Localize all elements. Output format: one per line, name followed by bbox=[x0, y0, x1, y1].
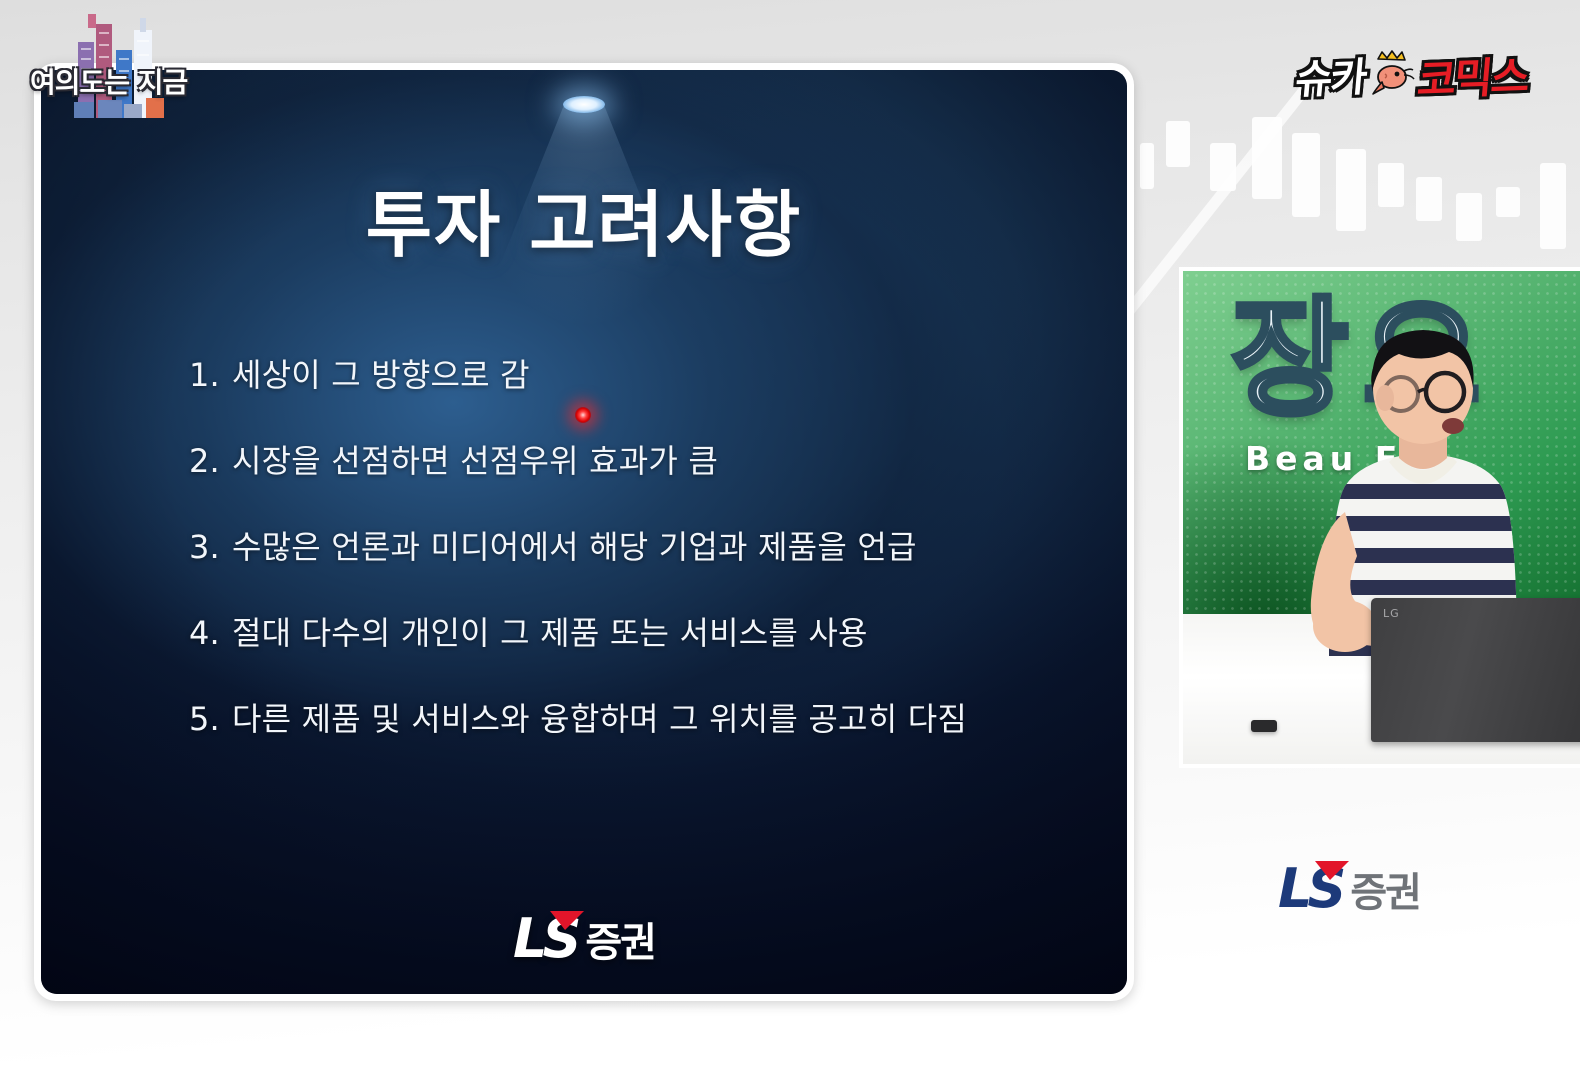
ls-logo-chevron-icon bbox=[1313, 861, 1349, 880]
candlestick-background-decoration bbox=[1140, 95, 1580, 295]
list-item: 1. 세상이 그 방향으로 감 bbox=[189, 350, 1087, 396]
list-item-number: 5. bbox=[189, 700, 220, 738]
list-item: 2. 시장을 선점하면 선점우위 효과가 큼 bbox=[189, 436, 1087, 482]
watermark-label: 여의도는 지금 bbox=[30, 61, 187, 101]
list-item-text: 시장을 선점하면 선점우위 효과가 큼 bbox=[232, 436, 718, 482]
list-item-text: 절대 다수의 개인이 그 제품 또는 서비스를 사용 bbox=[232, 608, 868, 654]
presentation-slide: 투자 고려사항 1. 세상이 그 방향으로 감 2. 시장을 선점하면 선점우위… bbox=[41, 70, 1127, 994]
crowned-shrimp-icon bbox=[1368, 49, 1416, 101]
list-item: 5. 다른 제품 및 서비스와 융합하며 그 위치를 공고히 다짐 bbox=[189, 694, 1087, 740]
broadcast-stage: 여의도는 지금 슈카 코믹스 투자 고려사항 1. 세상이 그 방향으로 감 bbox=[0, 0, 1580, 1080]
slide-title: 투자 고려사항 bbox=[41, 166, 1127, 271]
presenter-remote bbox=[1251, 720, 1277, 732]
list-item-number: 4. bbox=[189, 614, 220, 652]
channel-logo-red-text: 코믹스 bbox=[1415, 43, 1531, 108]
watermark-program-title: 여의도는 지금 bbox=[14, 6, 244, 126]
broadcaster-logo: LS 증권 bbox=[1278, 864, 1420, 914]
ls-logo-chevron-icon bbox=[548, 911, 584, 930]
spotlight-icon bbox=[563, 96, 605, 113]
presentation-slide-frame: 투자 고려사항 1. 세상이 그 방향으로 감 2. 시장을 선점하면 선점우위… bbox=[34, 63, 1134, 1001]
ls-logo-word: 증권 bbox=[585, 922, 655, 964]
slide-bullet-list: 1. 세상이 그 방향으로 감 2. 시장을 선점하면 선점우위 효과가 큼 3… bbox=[189, 350, 1087, 780]
list-item: 3. 수많은 언론과 미디어에서 해당 기업과 제품을 언급 bbox=[189, 522, 1087, 568]
webcam-panel: 장으 Beau F bbox=[1183, 271, 1580, 764]
list-item-text: 세상이 그 방향으로 감 bbox=[232, 350, 530, 396]
laptop: LG bbox=[1371, 598, 1580, 742]
laser-pointer-dot bbox=[575, 407, 591, 423]
laptop-brand-label: LG bbox=[1383, 607, 1400, 620]
ls-logo-word: 증권 bbox=[1350, 872, 1420, 914]
list-item-number: 1. bbox=[189, 356, 220, 394]
list-item-number: 3. bbox=[189, 528, 220, 566]
channel-logo: 슈카 코믹스 bbox=[1296, 44, 1528, 106]
list-item-text: 다른 제품 및 서비스와 융합하며 그 위치를 공고히 다짐 bbox=[232, 694, 967, 740]
channel-logo-white-text: 슈카 bbox=[1294, 45, 1369, 105]
slide-footer-logo: LS 증권 bbox=[513, 914, 655, 964]
list-item-number: 2. bbox=[189, 442, 220, 480]
list-item-text: 수많은 언론과 미디어에서 해당 기업과 제품을 언급 bbox=[232, 522, 917, 568]
list-item: 4. 절대 다수의 개인이 그 제품 또는 서비스를 사용 bbox=[189, 608, 1087, 654]
